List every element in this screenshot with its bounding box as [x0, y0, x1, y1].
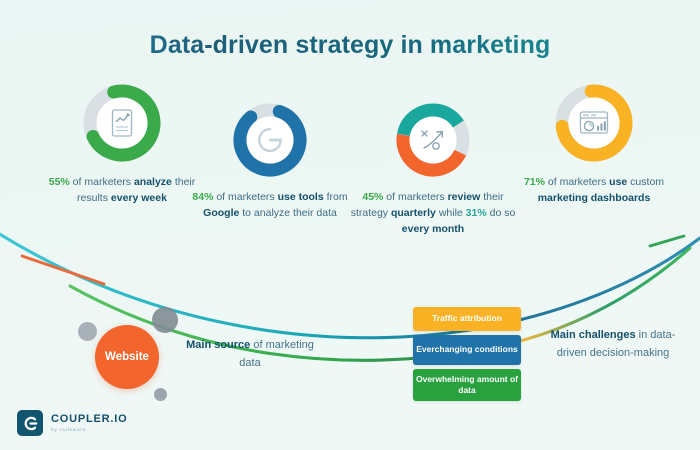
stat-card-custom-dashboards: 71% of marketers use custom marketing da…: [505, 80, 683, 207]
stat-card-google-tools: 84% of marketers use tools from Google t…: [190, 99, 350, 222]
donut-chart-55: [79, 80, 165, 166]
main-source-label: Main source of marketing data: [180, 337, 320, 372]
challenge-bar-traffic-attribution: Traffic attribution: [413, 307, 521, 331]
website-bubble: Website: [95, 325, 159, 389]
satellite-dot-top: [152, 307, 178, 333]
stat-card-strategy-review: 45% of marketers review their strategy q…: [347, 99, 519, 238]
stat-caption-analyze-results: 55% of marketers analyze their results e…: [32, 175, 212, 207]
strategy-tactics-icon: [392, 99, 474, 181]
donut-chart-45-31: [392, 99, 474, 181]
curve-green-dash: [650, 236, 684, 246]
dashboard-icon: [551, 80, 637, 166]
challenge-bar-everchanging-conditions: Everchanging conditions: [413, 335, 521, 365]
main-challenges-label: Main challenges in data-driven decision-…: [538, 327, 688, 362]
curve-teal: [0, 228, 700, 338]
coupler-logo[interactable]: COUPLER.IO by railsware: [17, 410, 127, 436]
stat-caption-custom-dashboards: 71% of marketers use custom marketing da…: [505, 175, 683, 207]
challenge-bar-label: Traffic attribution: [432, 313, 502, 324]
coupler-c-icon: [17, 410, 43, 436]
challenge-bar-label: Overwhelming amount of data: [413, 374, 521, 397]
stat-caption-google-tools: 84% of marketers use tools from Google t…: [190, 190, 350, 222]
website-bubble-label: Website: [105, 351, 149, 363]
google-g-icon: [229, 99, 311, 181]
challenge-bar-label: Everchanging conditions: [416, 344, 518, 355]
curve-orange-dash: [22, 256, 104, 284]
page-title: Data-driven strategy in marketing: [0, 31, 700, 60]
document-chart-icon: [79, 80, 165, 166]
challenge-bar-overwhelming-data: Overwhelming amount of data: [413, 369, 521, 401]
donut-chart-71: [551, 80, 637, 166]
stat-card-analyze-results: 55% of marketers analyze their results e…: [32, 80, 212, 207]
donut-chart-84: [229, 99, 311, 181]
satellite-dot-left: [78, 322, 97, 341]
stat-caption-strategy-review: 45% of marketers review their strategy q…: [347, 190, 519, 238]
satellite-dot-bottom: [154, 388, 167, 401]
logo-name: COUPLER.IO: [51, 414, 127, 425]
logo-tagline: by railsware: [51, 428, 127, 433]
infographic-canvas: Data-driven strategy in marketing 55% of…: [0, 0, 700, 450]
